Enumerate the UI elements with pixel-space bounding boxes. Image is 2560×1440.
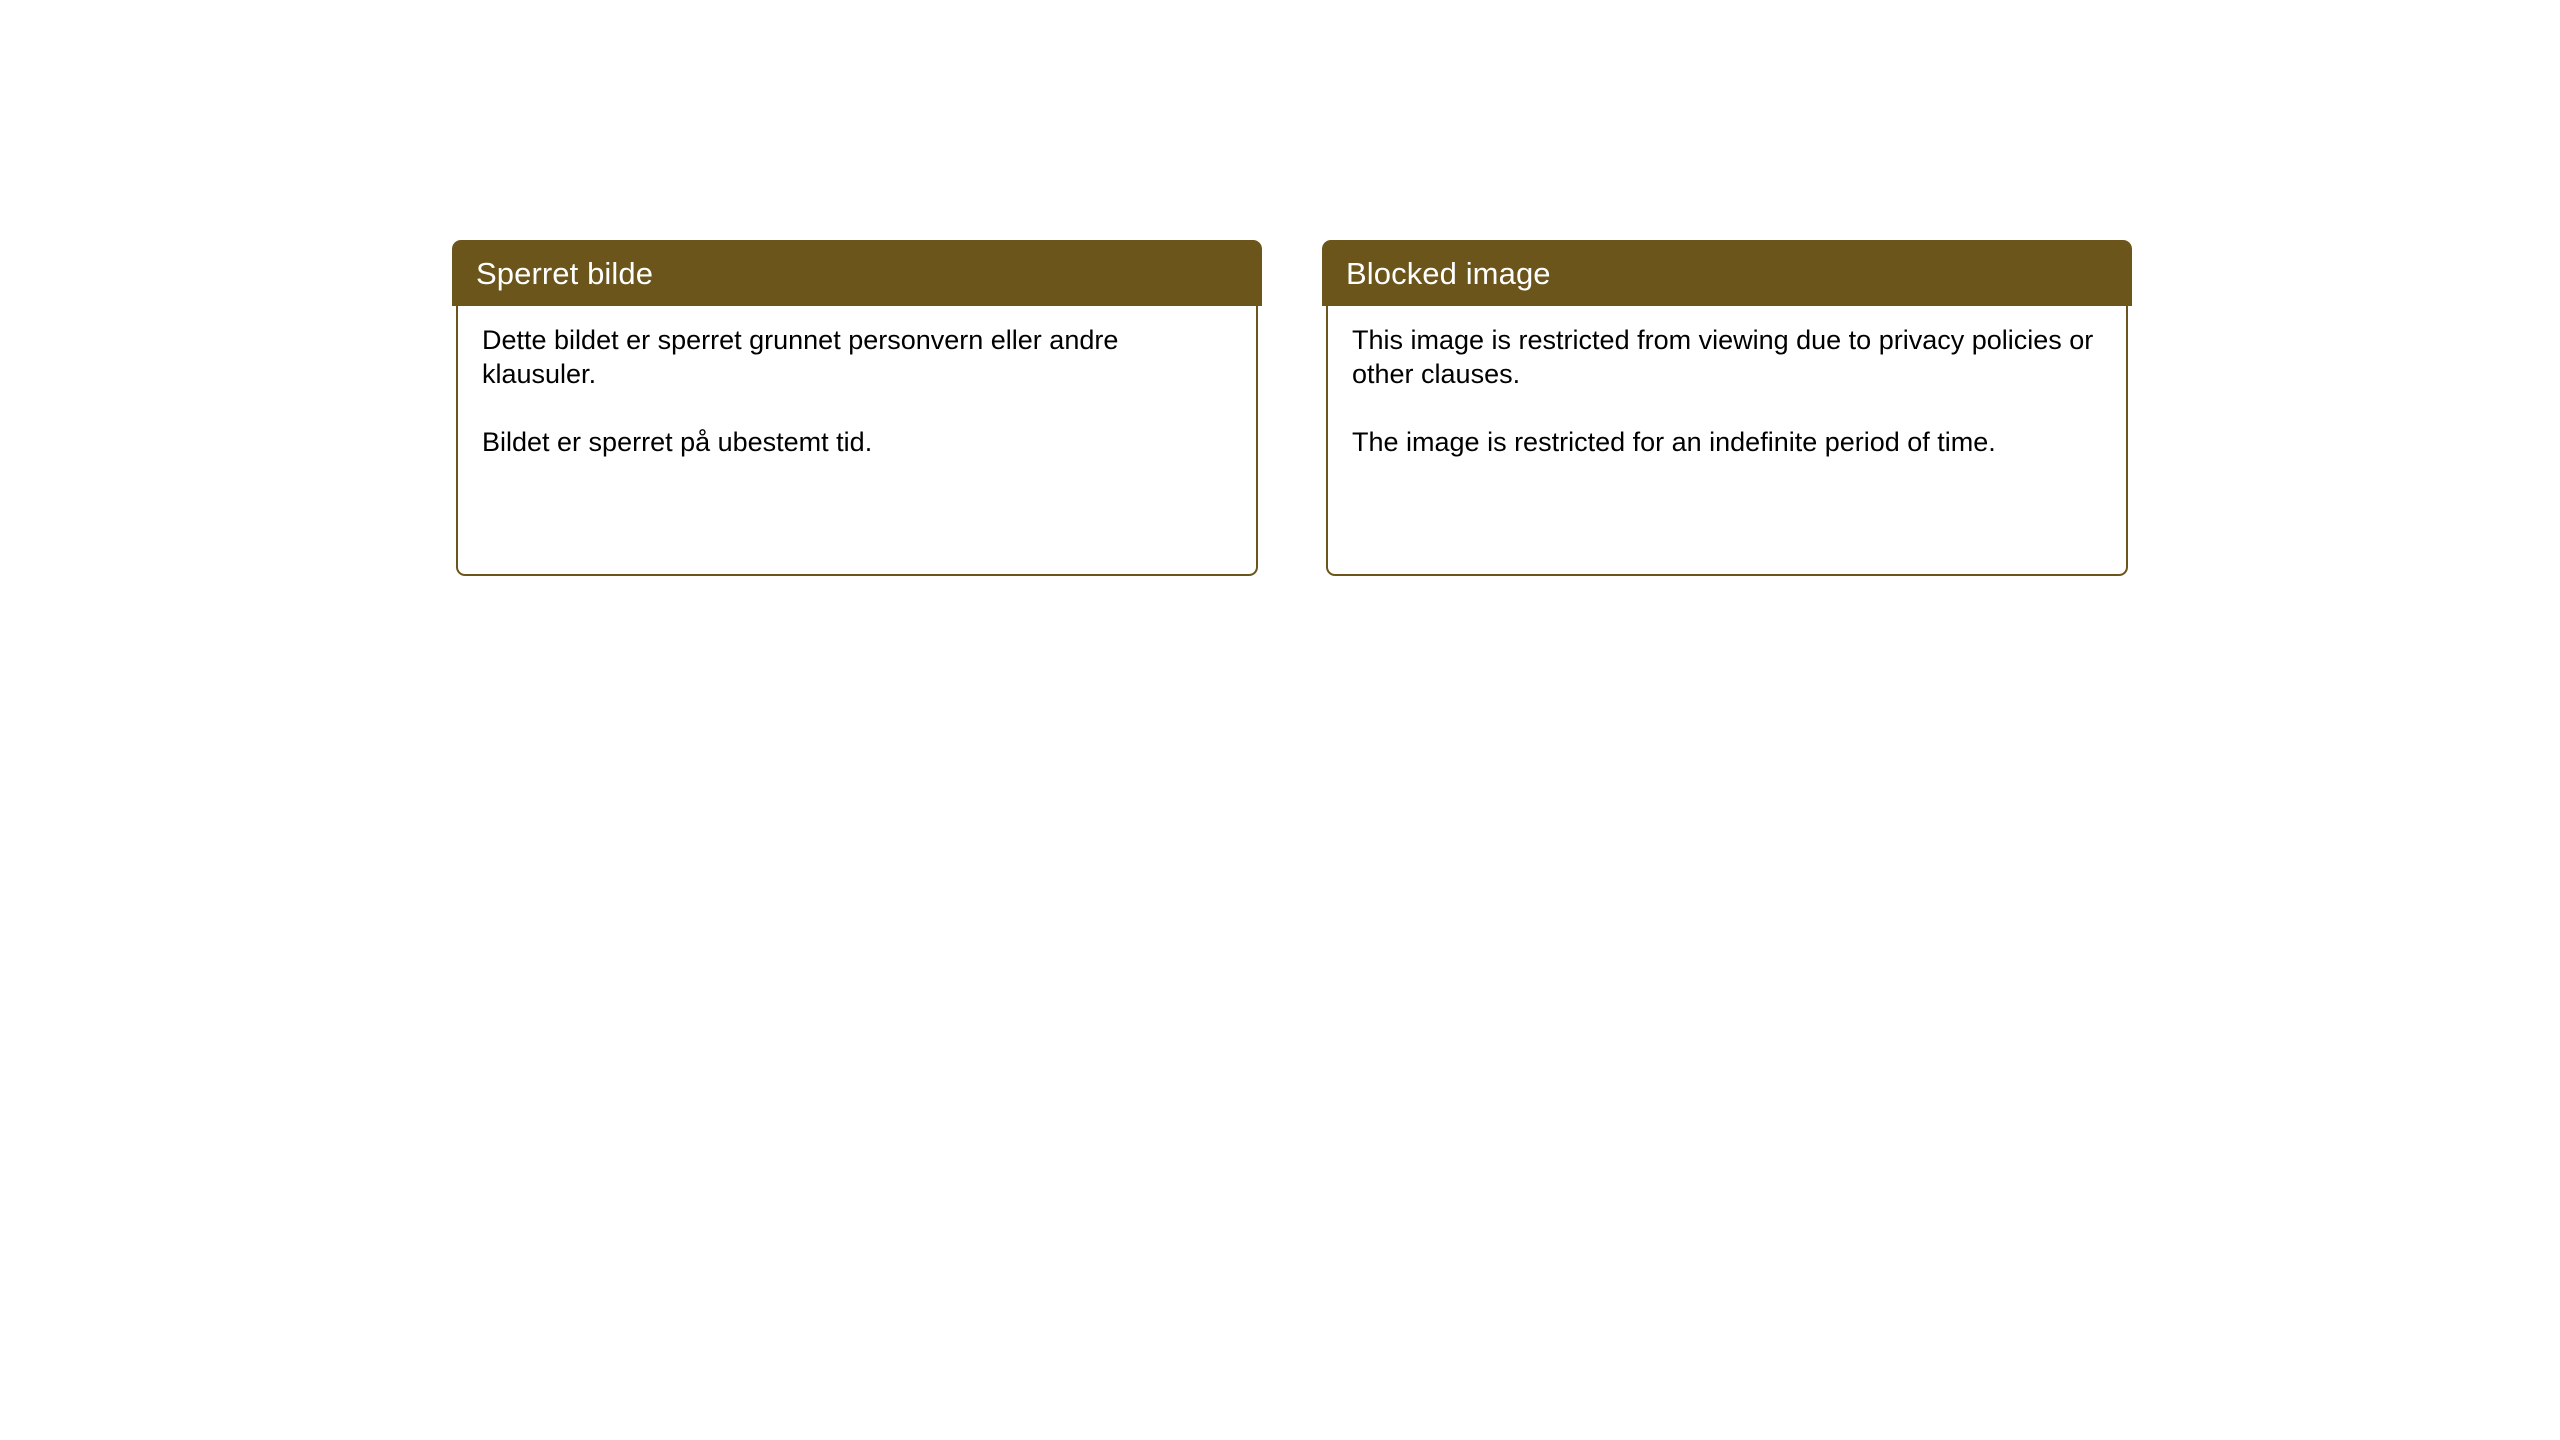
- notice-body-no: Dette bildet er sperret grunnet personve…: [456, 300, 1258, 576]
- notice-header-bar-no: Sperret bilde: [452, 240, 1262, 306]
- notice-paragraph-duration-en: The image is restricted for an indefinit…: [1352, 425, 2100, 459]
- notice-paragraph-reason-no: Dette bildet er sperret grunnet personve…: [482, 323, 1230, 391]
- notice-paragraph-duration-no: Bildet er sperret på ubestemt tid.: [482, 425, 1230, 459]
- notice-title-no: Sperret bilde: [476, 258, 653, 289]
- notice-paragraph-reason-en: This image is restricted from viewing du…: [1352, 323, 2100, 391]
- page-canvas: Sperret bilde Dette bildet er sperret gr…: [0, 0, 2560, 1440]
- notice-body-en: This image is restricted from viewing du…: [1326, 300, 2128, 576]
- blocked-image-notice-card-en: Blocked image This image is restricted f…: [1322, 240, 2132, 576]
- notice-header-bar-en: Blocked image: [1322, 240, 2132, 306]
- notice-title-en: Blocked image: [1346, 258, 1551, 289]
- blocked-image-notice-card-no: Sperret bilde Dette bildet er sperret gr…: [452, 240, 1262, 576]
